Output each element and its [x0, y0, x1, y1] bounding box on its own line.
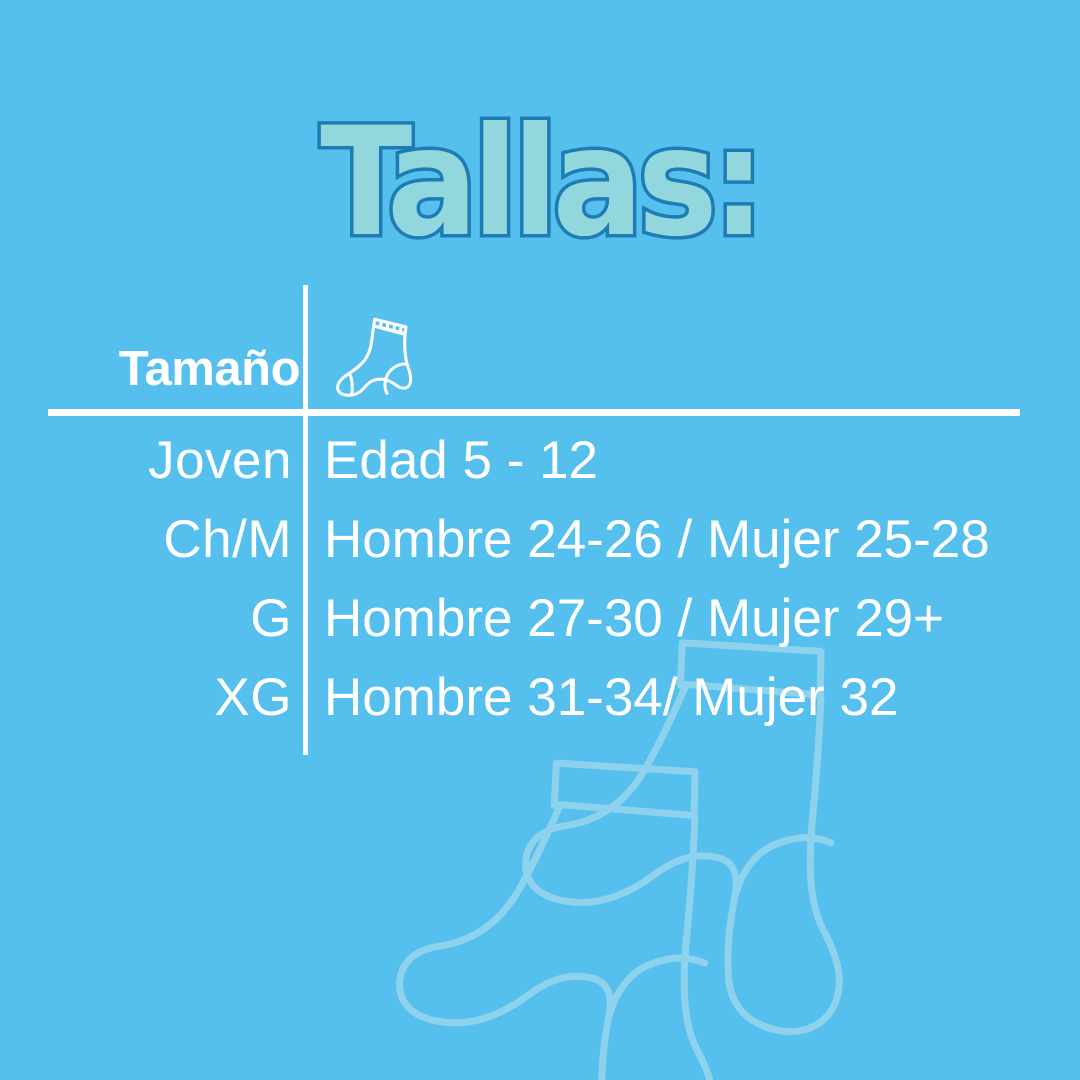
cell-size: XG [0, 662, 292, 734]
cell-size: Ch/M [0, 504, 292, 576]
cell-description: Hombre 27-30 / Mujer 29+ [324, 583, 1064, 655]
table-body: Joven Edad 5 - 12 Ch/M Hombre 24-26 / Mu… [0, 425, 1080, 741]
cell-size: Joven [0, 425, 292, 497]
cell-size: G [0, 583, 292, 655]
size-chart-graphic: Tallas: Tamaño Joven Edad 5 - 12 Ch/M Ho [0, 0, 1080, 1080]
cell-description: Hombre 24-26 / Mujer 25-28 [324, 504, 1064, 576]
column-header-size: Tamaño [0, 345, 300, 394]
cell-description: Edad 5 - 12 [324, 425, 1064, 497]
size-table: Tamaño Joven Edad 5 - 12 Ch/M Hombre 24-… [0, 0, 1080, 1080]
cell-description: Hombre 31-34/ Mujer 32 [324, 662, 1064, 734]
table-row: XG Hombre 31-34/ Mujer 32 [0, 662, 1080, 741]
table-row: Joven Edad 5 - 12 [0, 425, 1080, 504]
table-header-divider [48, 409, 1020, 416]
sock-icon [330, 305, 425, 400]
table-row: G Hombre 27-30 / Mujer 29+ [0, 583, 1080, 662]
table-row: Ch/M Hombre 24-26 / Mujer 25-28 [0, 504, 1080, 583]
